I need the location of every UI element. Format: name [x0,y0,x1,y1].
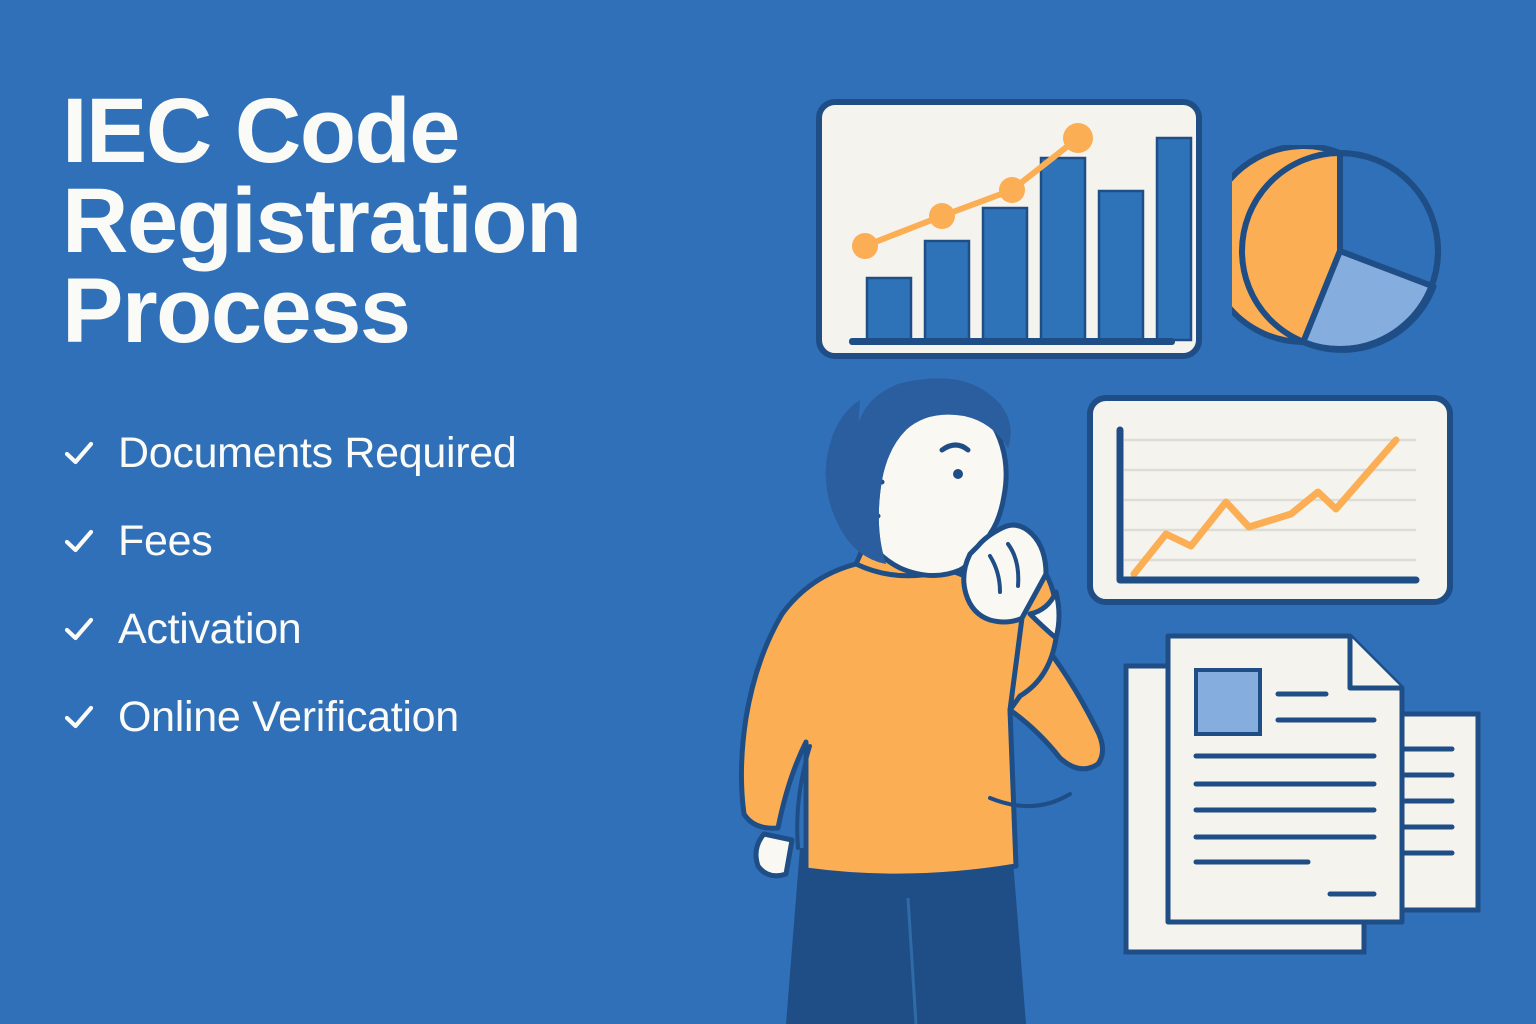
documents-stack [1122,632,1482,962]
illustration-group [0,0,1536,1024]
person-eye [953,469,963,479]
document-photo-box [1196,670,1260,734]
bar-chart-card [815,98,1203,360]
pie-chart [1232,145,1448,357]
poster-canvas: IEC Code Registration Process Documents … [0,0,1536,1024]
document-sheet-right [1400,714,1478,910]
thinking-person [660,378,1140,1024]
document-sheet-front [1168,636,1402,922]
line-chart-card [1086,394,1454,606]
bar-chart-axis [849,338,1175,345]
person-hand-hip [756,834,792,876]
